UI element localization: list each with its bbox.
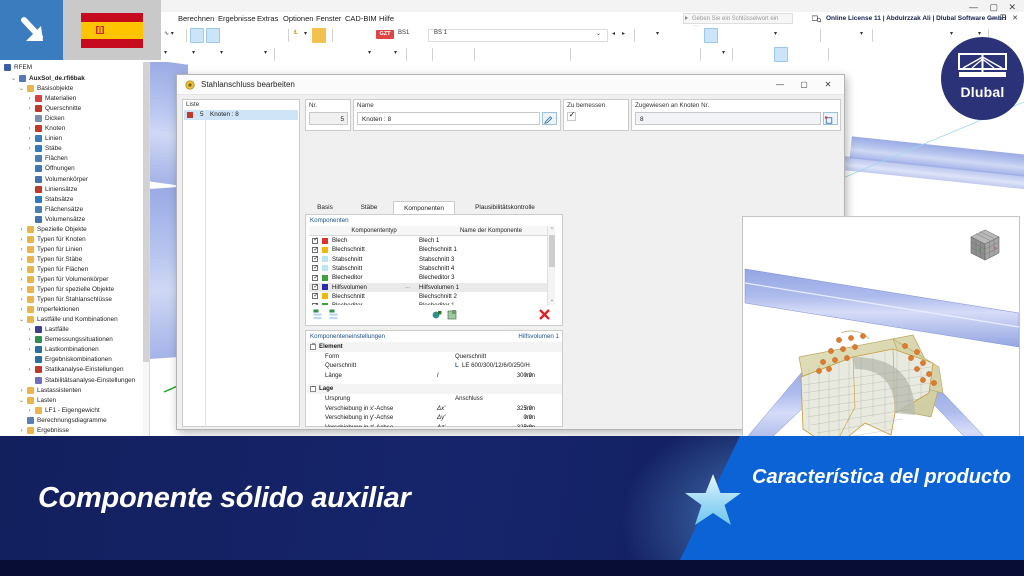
document-close-button[interactable]: ✕ [1012, 12, 1018, 26]
member-hinge-icon[interactable] [334, 47, 348, 62]
component-name-cell: Hilfsvolumen 1 [419, 283, 459, 292]
new-node-icon[interactable] [202, 47, 216, 62]
load-case-value: BS 1 [434, 30, 447, 36]
hd-icon[interactable] [312, 28, 326, 43]
list-1-icon[interactable] [576, 47, 590, 62]
column-name-der-komponente: Name der Komponente [433, 226, 549, 236]
dialog-minimize-button[interactable]: — [768, 75, 792, 94]
undo-redo-icon[interactable]: ∿ ▾ [164, 30, 174, 37]
line-load-icon[interactable] [378, 47, 392, 62]
liste-panel[interactable]: Liste 5 Knoten : 8 [182, 99, 300, 427]
line-support-icon[interactable] [316, 47, 330, 62]
menu-item-fenster[interactable]: Fenster [316, 12, 341, 26]
stability-analysis-icon [35, 377, 42, 384]
rotate-view-icon[interactable] [932, 28, 946, 43]
component-checkbox[interactable] [312, 293, 318, 299]
components-table-toolbar [309, 307, 559, 323]
dimension-icon[interactable] [802, 28, 816, 43]
solid-icon [35, 176, 42, 183]
keyword-search-input[interactable]: Geben Sie ein Schlüsselwort ein (Alt... [683, 13, 793, 24]
license-status-text: Online License 11 | Abdulrzzak Ali | Dlu… [826, 12, 1007, 26]
liste-header-label: Liste [186, 101, 199, 108]
license-icon [812, 15, 821, 23]
snapshot-icon[interactable] [906, 47, 920, 62]
dialog-close-button[interactable]: ✕ [816, 75, 840, 94]
tab-staebe[interactable]: Stäbe [349, 201, 389, 214]
printout-icon[interactable] [254, 28, 268, 43]
search-caret-icon [685, 16, 688, 20]
settings-row-unit: mm [525, 404, 535, 414]
tree-expander-icon[interactable]: › [18, 426, 25, 436]
menu-item-optionen[interactable]: Optionen [283, 12, 313, 26]
tab-komponenten[interactable]: Komponenten [393, 201, 455, 214]
folder-icon [27, 316, 34, 323]
folder-icon [27, 296, 34, 303]
dlubal-mark-icon [958, 53, 1007, 83]
zoom-window-icon[interactable] [878, 28, 892, 43]
component-color-swatch [322, 284, 328, 290]
component-color-swatch [322, 247, 328, 253]
settings-row-unit: mm [525, 423, 535, 427]
new-member-icon[interactable] [248, 47, 262, 62]
grid-caret-icon[interactable]: ▾ [860, 30, 863, 37]
arrow-badge [0, 0, 63, 60]
support-icon[interactable] [280, 47, 294, 62]
name-value: Knoten : 8 [362, 116, 391, 123]
folder-icon [27, 266, 34, 273]
svg-text:x: x [994, 245, 996, 250]
zugewiesen-label: Zugewiesen an Knoten Nr. [635, 102, 709, 109]
settings-row[interactable]: QuerschnittLE 600/300/12/6/0/250/HL [307, 361, 562, 371]
project-navigator-tree[interactable]: RFEM ⌄AuxSol_de.rfi6bak⌄Basisobjekte›Mat… [0, 62, 150, 436]
name-label: Name [357, 102, 374, 109]
settings-row-label: Verschiebung in x'-Achse [325, 404, 393, 414]
render-mode-1-icon[interactable] [338, 28, 352, 43]
component-name-cell: Blechschnitt 1 [419, 245, 457, 254]
grid-icon[interactable] [844, 28, 858, 43]
design-situation-badge: GZT [376, 30, 394, 39]
component-row[interactable]: BlechBlech 1 [309, 236, 547, 245]
measure-icon[interactable] [552, 47, 566, 62]
polygon-icon[interactable] [456, 47, 470, 62]
collapse-all-icon[interactable] [329, 309, 341, 321]
component-type-cell: Blechschnitt [332, 245, 365, 254]
zoom-selection-icon[interactable] [914, 28, 928, 43]
tree-expander-icon[interactable]: › [26, 365, 33, 376]
settings-row[interactable]: Verschiebung in y'-AchseΔy'0.0mm [307, 413, 562, 423]
component-color-swatch [322, 293, 328, 299]
tree-expander-icon[interactable]: ⌄ [18, 315, 25, 326]
settings-row-value[interactable]: Anschluss [455, 394, 483, 404]
new-member-caret-icon[interactable]: ▾ [264, 49, 267, 56]
section-collapse-icon[interactable] [310, 386, 316, 392]
steel-joint-edit-dialog[interactable]: Stahlanschluss bearbeiten — ▢ ✕ Liste 5 … [176, 74, 845, 430]
folder-icon [27, 397, 34, 404]
settings-row-symbol: Δy' [437, 413, 445, 423]
marker-icon[interactable] [684, 47, 698, 62]
surface-icon [35, 155, 42, 162]
liste-row-selected[interactable]: 5 Knoten : 8 [184, 110, 298, 120]
component-name-cell: Blechschnitt 2 [419, 292, 457, 301]
select-caret-icon[interactable]: ▾ [164, 49, 167, 56]
component-checkbox[interactable] [312, 275, 318, 281]
result-combination-icon [35, 356, 42, 363]
tree-scrollbar-thumb[interactable] [143, 62, 150, 362]
fem-mesh-icon[interactable] [774, 47, 788, 62]
dlubal-logo-text: Dlubal [941, 84, 1024, 100]
tree-expander-icon[interactable]: › [26, 345, 33, 356]
component-row[interactable]: BlecheditorBlecheditor 1 [309, 301, 547, 305]
menu-item-hilfe[interactable]: Hilfe [379, 12, 394, 26]
menu-item-ergebnisse[interactable]: Ergebnisse [218, 12, 256, 26]
settings-row[interactable]: Verschiebung in x'-AchseΔx'325.0mm [307, 404, 562, 414]
settings-row-symbol: l [437, 371, 438, 381]
expand-all-icon[interactable] [313, 309, 325, 321]
component-color-swatch [322, 238, 328, 244]
settings-row[interactable]: Verschiebung in z'-AchseΔz'-325.0mm [307, 423, 562, 427]
tree-expander-icon[interactable]: › [26, 406, 33, 417]
file-icon [19, 75, 26, 82]
mesh-icon[interactable] [756, 47, 770, 62]
table-view-icon[interactable] [238, 28, 252, 43]
zu-bemessen-label: Zu bemessen [567, 102, 605, 109]
nr-label: Nr. [309, 102, 317, 109]
pick-node-icon [824, 115, 835, 126]
component-row[interactable]: BlechschnittBlechschnitt 1 [309, 245, 547, 254]
folder-icon [27, 85, 34, 92]
dlubal-logo: Dlubal [941, 37, 1024, 120]
menu-item-berechnen[interactable]: Berechnen [178, 12, 214, 26]
component-checkbox[interactable] [312, 238, 318, 244]
banner-headline: Componente sólido auxiliar [38, 482, 410, 515]
section-icon[interactable] [784, 28, 798, 43]
line-load-caret-icon[interactable]: ▾ [394, 49, 397, 56]
surface-set-icon [35, 206, 42, 213]
nav-next-icon[interactable]: ▸ [622, 30, 625, 37]
settings-section-header[interactable]: Element [307, 342, 562, 352]
settings-group-title: Komponenteneinstellungen [307, 332, 385, 341]
folder-icon [27, 427, 34, 434]
document-restore-button[interactable]: ❐ [1000, 12, 1006, 26]
liste-row-number: 5 [200, 110, 204, 120]
component-name-cell: Stabschnitt 4 [419, 264, 454, 273]
print-icon[interactable] [740, 28, 754, 43]
folder-icon [27, 286, 34, 293]
render-mode-2-icon[interactable] [356, 28, 370, 43]
menu-item-extras[interactable]: Extras [257, 12, 278, 26]
list-3-icon[interactable] [612, 47, 626, 62]
nr-value: 5 [340, 116, 344, 123]
zu-bemessen-checkbox[interactable]: ✓ [567, 112, 576, 121]
component-row[interactable]: BlechschnittBlechschnitt 2 [309, 292, 547, 301]
delete-results-icon[interactable] [640, 28, 654, 43]
settings-row-label: Verschiebung in z'-Achse [325, 423, 393, 427]
component-checkbox[interactable] [312, 256, 318, 262]
components-table-header: Komponententyp Name der Komponente [309, 226, 554, 236]
graph-caret-icon[interactable]: ▾ [722, 49, 725, 56]
line-icon [35, 135, 42, 142]
view-cube-icon[interactable]: y x [965, 227, 1005, 265]
banner-badge-text: Característica del producto [752, 464, 1022, 491]
load-dropdown-icon[interactable]: ▾ [304, 30, 307, 37]
nodal-support-icon[interactable] [298, 47, 312, 62]
svg-text:y: y [979, 246, 981, 251]
view-panel-1-icon[interactable] [190, 28, 204, 43]
component-type-cell: Blecheditor [332, 301, 363, 305]
spain-coat-of-arms-icon [94, 24, 106, 37]
component-name-cell: Blech 1 [419, 236, 439, 245]
pencil-icon [543, 115, 554, 126]
zoom-all-icon[interactable] [896, 28, 910, 43]
liste-header: Liste [183, 100, 299, 110]
view-panel-3-icon[interactable] [222, 28, 236, 43]
deformation-icon[interactable] [722, 28, 736, 43]
zugewiesen-value: 8 [640, 116, 644, 123]
component-color-swatch [322, 303, 328, 305]
member-set-icon [35, 196, 42, 203]
settings-row-symbol: Δx' [437, 404, 445, 414]
folder-icon [27, 387, 34, 394]
load-case-icon [35, 326, 42, 333]
main-toolbar-row-1: ∿ ▾ Ɫ ▾ GZT BS1 BS 1 ⌄ ◂ ▸ ▾ [160, 26, 1024, 45]
star-icon [683, 472, 743, 530]
component-checkbox[interactable] [312, 284, 318, 290]
delete-results-caret-icon[interactable]: ▾ [656, 30, 659, 37]
steel-joint-icon [185, 80, 195, 90]
settings-row-label: Form [325, 352, 339, 362]
load-icon[interactable]: Ɫ [294, 30, 298, 36]
load-case-selector[interactable] [428, 29, 608, 42]
settings-group-badge: Hilfsvolumen 1 [518, 332, 559, 341]
dialog-titlebar: Stahlanschluss bearbeiten — ▢ ✕ [177, 75, 844, 95]
settings-row[interactable]: Längel300.0mm [307, 371, 562, 381]
load-combination-icon [35, 346, 42, 353]
export-icon[interactable] [758, 28, 772, 43]
report-icon[interactable] [270, 28, 284, 43]
tree-root-label: RFEM [14, 62, 32, 73]
select-objects-caret-icon[interactable]: ▾ [192, 49, 195, 56]
scroll-down-icon[interactable]: ⌄ [548, 296, 556, 304]
node-icon [35, 125, 42, 132]
section-collapse-icon[interactable] [310, 344, 316, 350]
dialog-maximize-button[interactable]: ▢ [792, 75, 816, 94]
folder-icon [27, 236, 34, 243]
align-icon[interactable] [534, 47, 548, 62]
settings-icon[interactable] [431, 309, 443, 321]
component-row[interactable]: Hilfsvolumen...Hilfsvolumen 1 [309, 283, 547, 292]
cross-section-icon [35, 105, 42, 112]
snap-icon[interactable] [826, 28, 840, 43]
komponenten-group: Komponenten Komponententyp Name der Komp… [305, 214, 563, 326]
settings-row-value[interactable]: LE 600/300/12/6/0/250/H [462, 361, 530, 371]
spain-flag-icon [81, 13, 143, 48]
combo-label-bs1: BS1 [398, 30, 409, 36]
list-2-icon[interactable] [594, 47, 608, 62]
tab-plausibilitaetskontrolle[interactable]: Plausibilitätskontrolle [457, 201, 553, 214]
nr-input[interactable]: 5 [309, 112, 348, 125]
arrow-down-right-icon [0, 0, 63, 60]
tree-expander-icon[interactable]: ⌄ [18, 396, 25, 407]
component-type-cell: Hilfsvolumen [332, 283, 367, 292]
component-checkbox[interactable] [312, 247, 318, 253]
view-icon[interactable] [852, 47, 866, 62]
settings-row-label: Verschiebung in y'-Achse [325, 413, 393, 423]
folder-icon [27, 256, 34, 263]
nodal-load-icon[interactable] [352, 47, 366, 62]
zugewiesen-input[interactable]: 8 [635, 112, 821, 125]
solid-icon[interactable] [516, 47, 530, 62]
components-scrollbar-thumb[interactable] [549, 235, 555, 267]
liste-row-label: Knoten : 8 [210, 110, 239, 120]
nr-field-group: Nr. 5 [305, 99, 351, 131]
trim-icon[interactable] [498, 47, 512, 62]
visibility-caret-icon[interactable]: ▾ [978, 30, 981, 37]
folder-icon [27, 306, 34, 313]
materials-icon [35, 95, 42, 102]
solid-set-icon [35, 216, 42, 223]
tree-expander-icon[interactable]: › [26, 144, 33, 155]
scroll-up-icon[interactable]: ⌃ [548, 226, 556, 234]
select-objects-icon[interactable] [174, 47, 188, 62]
zugewiesen-group: Zugewiesen an Knoten Nr. 8 [631, 99, 841, 131]
settings-row-value[interactable]: Querschnitt [455, 352, 486, 362]
document-minimize-button[interactable]: — [989, 12, 996, 26]
nav-prev-icon[interactable]: ◂ [612, 30, 615, 37]
liste-row-color-swatch [187, 112, 193, 118]
load-case-caret-icon[interactable]: ⌄ [596, 30, 601, 37]
components-scrollbar[interactable]: ⌃ ⌄ [547, 226, 555, 305]
nodal-load-caret-icon[interactable]: ▾ [368, 49, 371, 56]
checkmark-icon: ✓ [569, 110, 576, 119]
component-type-ellipsis-button[interactable]: ... [405, 283, 410, 292]
banner-bottom-strip [0, 560, 1024, 576]
component-checkbox[interactable] [312, 265, 318, 271]
import-icon[interactable] [447, 309, 459, 321]
static-analysis-icon [35, 366, 42, 373]
component-color-swatch [322, 275, 328, 281]
promo-banner: Componente sólido auxiliar Característic… [0, 436, 1024, 576]
rfem-application-window: — ▢ ✕ Berechnen Ergebnisse Extras Option… [0, 0, 1024, 436]
rfem-icon [4, 64, 11, 71]
component-checkbox[interactable] [312, 303, 318, 305]
distribute-icon[interactable] [630, 47, 644, 62]
export-caret-icon[interactable]: ▾ [774, 30, 777, 37]
results-display-icon[interactable] [704, 28, 718, 43]
components-table-body[interactable]: BlechBlech 1BlechschnittBlechschnitt 1St… [309, 236, 547, 305]
diagram-icon [27, 417, 34, 424]
komponenten-group-title: Komponenten [307, 216, 349, 225]
name-input[interactable]: Knoten : 8 [357, 112, 540, 125]
settings-row-label: Querschnitt [325, 361, 356, 371]
dialog-tabs[interactable]: Basis Stäbe Komponenten Plausibilitätsko… [305, 201, 735, 214]
zugewiesen-pick-button[interactable] [823, 112, 838, 125]
color-icon[interactable] [666, 47, 680, 62]
view-panel-2-icon[interactable] [206, 28, 220, 43]
warning-icon[interactable] [870, 47, 884, 62]
settings-row[interactable]: FormQuerschnitt [307, 352, 562, 362]
opening-icon [35, 165, 42, 172]
folder-icon [27, 276, 34, 283]
tree-expander-icon[interactable]: ⌄ [10, 74, 17, 85]
component-row[interactable]: StabschnittStabschnitt 4 [309, 264, 547, 273]
settings-table-body[interactable]: ElementFormQuerschnittQuerschnittLE 600/… [307, 342, 562, 427]
settings-section-header[interactable]: Lage [307, 384, 562, 394]
component-color-swatch [322, 256, 328, 262]
name-edit-button[interactable] [542, 112, 557, 125]
component-type-cell: Stabschnitt [332, 264, 362, 273]
new-node-caret-icon[interactable]: ▾ [220, 49, 223, 56]
design-situation-icon [35, 336, 42, 343]
column-komponententyp: Komponententyp [319, 226, 429, 236]
check-model-icon[interactable] [686, 28, 700, 43]
komponenteneinstellungen-group: Komponenteneinstellungen Hilfsvolumen 1 … [305, 330, 563, 427]
component-name-cell: Blecheditor 1 [419, 301, 455, 305]
component-type-cell: Blech [332, 236, 347, 245]
settings-row-symbol: Δz' [437, 423, 445, 427]
component-type-cell: Blechschnitt [332, 292, 365, 301]
solid-mesh-icon[interactable] [792, 47, 806, 62]
component-row[interactable]: BlecheditorBlecheditor 3 [309, 273, 547, 282]
component-type-cell: Blecheditor [332, 273, 363, 282]
component-color-swatch [322, 265, 328, 271]
intersection-icon[interactable] [480, 47, 494, 62]
component-row[interactable]: StabschnittStabschnitt 3 [309, 255, 547, 264]
mesh-settings-icon[interactable] [810, 47, 824, 62]
delete-x-icon[interactable] [888, 47, 902, 62]
settings-row-unit: mm [525, 371, 535, 381]
settings-row-label: Ursprung [325, 394, 350, 404]
graph-icon[interactable] [706, 47, 720, 62]
angle-icon[interactable] [648, 47, 662, 62]
rotate-view-caret-icon[interactable]: ▾ [950, 30, 953, 37]
calculate-icon[interactable] [668, 28, 682, 43]
settings-section-title: Element [319, 342, 343, 352]
delete-icon[interactable] [538, 308, 551, 321]
tree-expander-icon[interactable]: ⌄ [18, 84, 25, 95]
settings-row-label: Länge [325, 371, 342, 381]
tree-expander-icon[interactable]: › [26, 104, 33, 115]
member-icon [35, 145, 42, 152]
tab-basis[interactable]: Basis [305, 201, 345, 214]
name-field-group: Name Knoten : 8 [353, 99, 561, 131]
language-flag-badge [63, 0, 161, 60]
new-line-icon[interactable] [230, 47, 244, 62]
dialog-title: Stahlanschluss bearbeiten [201, 75, 295, 95]
settings-row[interactable]: UrsprungAnschluss [307, 394, 562, 404]
arc-icon[interactable] [438, 47, 452, 62]
steel-joint-icon[interactable] [412, 47, 426, 62]
info-icon[interactable] [834, 47, 848, 62]
component-name-cell: Stabschnitt 3 [419, 255, 454, 264]
document-icon[interactable] [738, 47, 752, 62]
folder-icon [27, 226, 34, 233]
settings-section-title: Lage [319, 384, 333, 394]
menu-item-cad-bim[interactable]: CAD-BIM [345, 12, 377, 26]
folder-icon [35, 407, 42, 414]
component-type-cell: Stabschnitt [332, 255, 362, 264]
liste-column-divider [205, 110, 206, 428]
settings-row-unit: mm [525, 413, 535, 423]
line-set-icon [35, 186, 42, 193]
folder-icon [27, 246, 34, 253]
thickness-icon [35, 115, 42, 122]
zu-bemessen-group: Zu bemessen ✓ [563, 99, 629, 131]
component-name-cell: Blecheditor 3 [419, 273, 455, 282]
